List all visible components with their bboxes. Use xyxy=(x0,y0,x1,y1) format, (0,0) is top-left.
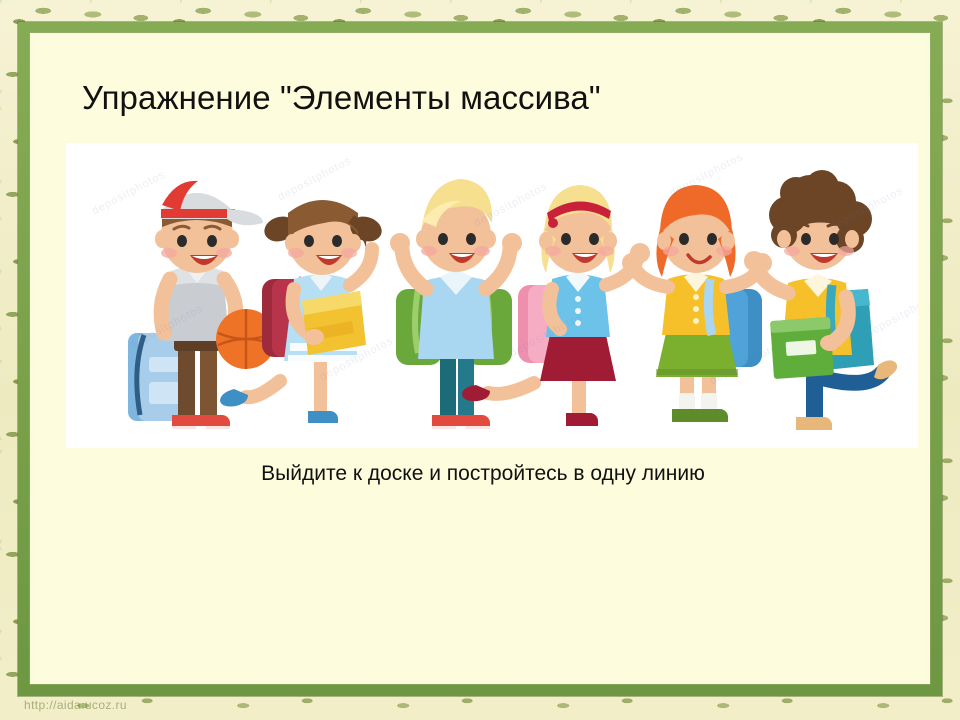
schoolchildren-illustration xyxy=(66,143,918,448)
illustration-panel: depositphotos depositphotos depositphoto… xyxy=(66,143,918,448)
caption: Выйдите к доске и постройтесь в одну лин… xyxy=(34,462,926,486)
slide-canvas: Упражнение "Элементы массива" xyxy=(34,37,926,680)
child-6-figure xyxy=(744,170,897,430)
page-title: Упражнение "Элементы массива" xyxy=(82,79,601,117)
caption-text: Выйдите к доске и постройтесь в одну лин… xyxy=(255,462,705,486)
slide: Упражнение "Элементы массива" xyxy=(0,0,960,720)
source-url-watermark: http://aida.ucoz.ru xyxy=(24,698,127,712)
child-5-figure xyxy=(622,185,772,422)
